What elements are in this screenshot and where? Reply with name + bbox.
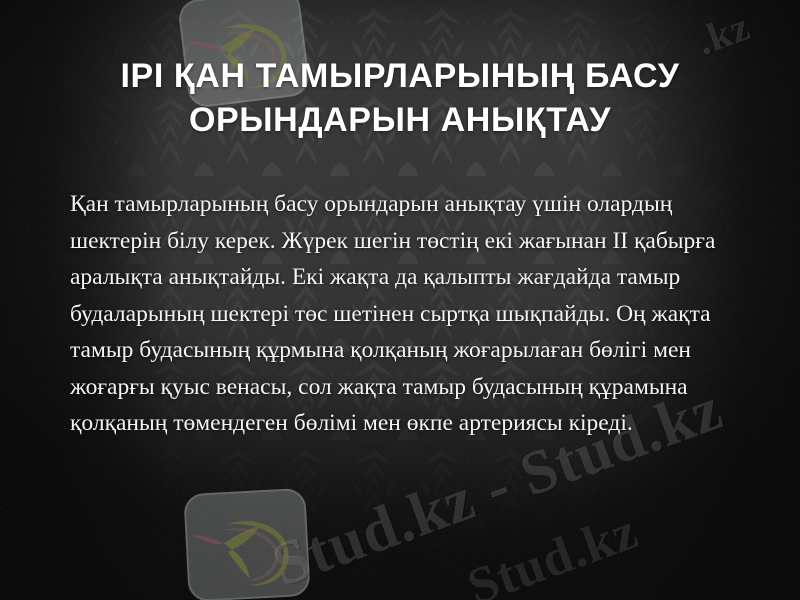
slide-content: ІРІ ҚАН ТАМЫРЛАРЫНЫҢ БАСУ ОРЫНДАРЫН АНЫҚ… bbox=[0, 0, 800, 600]
slide-title: ІРІ ҚАН ТАМЫРЛАРЫНЫҢ БАСУ ОРЫНДАРЫН АНЫҚ… bbox=[56, 54, 744, 142]
presentation-slide: .kz Stud.kz - Stud.kz Stud.kz ІРІ ҚАН ТА… bbox=[0, 0, 800, 600]
slide-body-text: Қан тамырларының басу орындарын анықтау … bbox=[70, 186, 722, 442]
